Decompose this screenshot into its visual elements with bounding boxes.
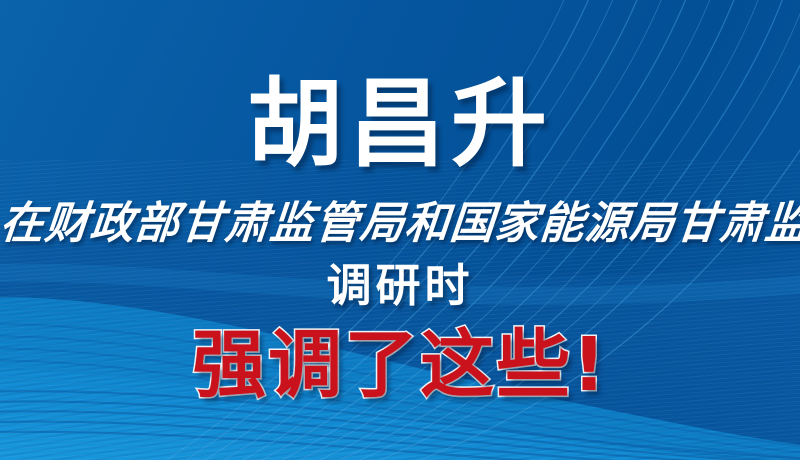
poster-banner: 胡昌升 在财政部甘肃监管局和国家能源局甘肃监管办 调研时 强调了这些!: [0, 0, 800, 460]
subtitle-occasion-brush: 在财政部甘肃监管局和国家能源局甘肃监管办: [0, 199, 800, 250]
emphasis-headline: 强调了这些!: [0, 328, 800, 402]
subtitle-occasion-when: 调研时: [0, 262, 800, 309]
poster-text-content: 胡昌升 在财政部甘肃监管局和国家能源局甘肃监管办 调研时 强调了这些!: [0, 0, 800, 460]
page-title-name: 胡昌升: [0, 76, 800, 172]
